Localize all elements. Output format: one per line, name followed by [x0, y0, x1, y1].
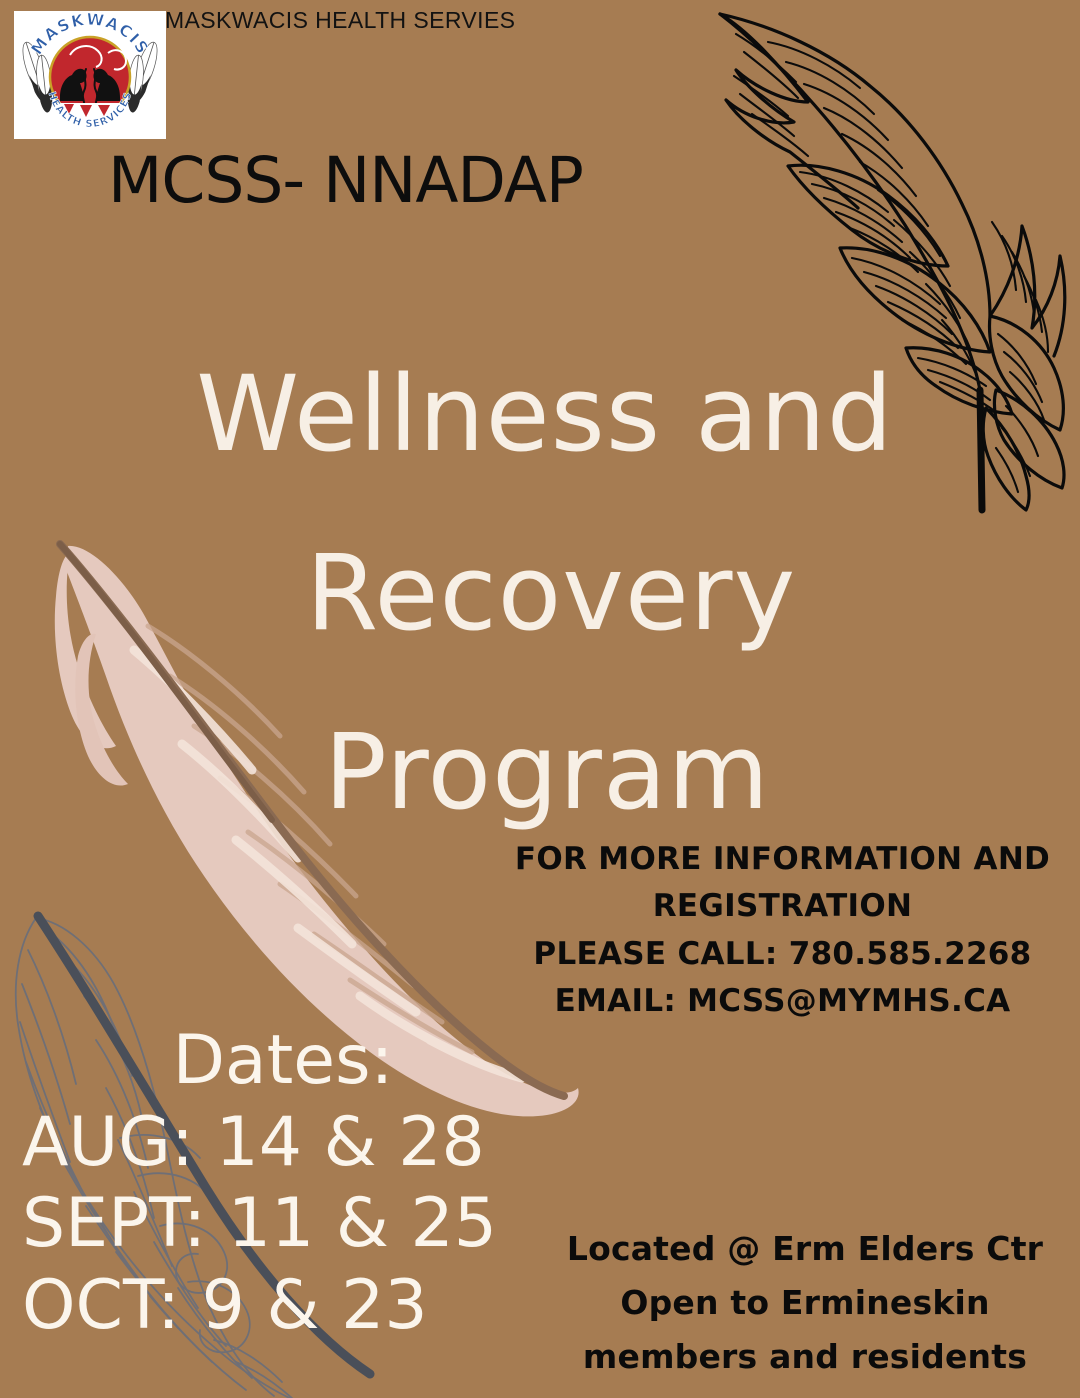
maskwacis-health-services-logo: MASKWACIS HEALTH SERVICES	[14, 11, 166, 139]
poster-canvas: MASKWACIS HEALTH SERVICES MASKWACIS HEAL…	[0, 0, 1080, 1398]
dates-section: Dates: AUG: 14 & 28 SEPT: 11 & 25 OCT: 9…	[22, 1020, 522, 1346]
contact-information: FOR MORE INFORMATION AND REGISTRATION PL…	[500, 836, 1065, 1026]
location-eligibility-line-2: members and residents	[530, 1330, 1080, 1384]
dates-entry-august: AUG: 14 & 28	[22, 1102, 522, 1184]
contact-line-registration: REGISTRATION	[500, 883, 1065, 930]
program-tag: MCSS- NNADAP	[108, 144, 583, 217]
location-information: Located @ Erm Elders Ctr Open to Ermines…	[530, 1222, 1080, 1383]
title-line-1: Wellness and	[10, 325, 1080, 504]
contact-line-info: FOR MORE INFORMATION AND	[500, 836, 1065, 883]
contact-email-line[interactable]: EMAIL: MCSS@MYMHS.CA	[500, 978, 1065, 1025]
location-venue-line: Located @ Erm Elders Ctr	[530, 1222, 1080, 1276]
dates-entry-september: SEPT: 11 & 25	[22, 1183, 522, 1265]
title-line-3: Program	[14, 683, 1080, 862]
location-eligibility-line-1: Open to Ermineskin	[530, 1276, 1080, 1330]
page-title: Wellness and Recovery Program	[0, 325, 1080, 862]
contact-phone-line[interactable]: PLEASE CALL: 780.585.2268	[500, 931, 1065, 978]
title-line-2: Recovery	[22, 504, 1080, 683]
dates-heading: Dates:	[22, 1020, 522, 1102]
organization-header: MASKWACIS HEALTH SERVIES	[165, 7, 515, 34]
dates-entry-october: OCT: 9 & 23	[22, 1265, 522, 1347]
